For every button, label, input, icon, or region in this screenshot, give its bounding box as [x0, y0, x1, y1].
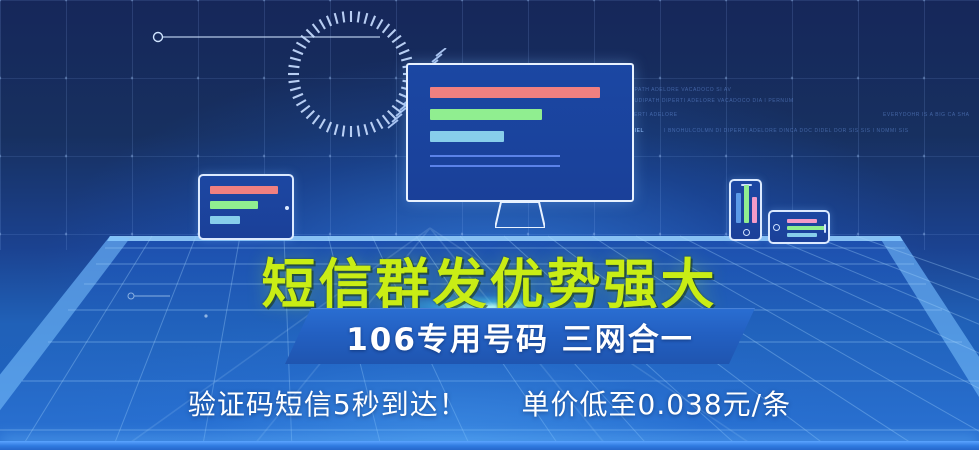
- subtitle-row: 验证码短信5秒到达！ 单价低至0.038元/条: [0, 383, 979, 423]
- tablet-bar-red: [210, 186, 278, 194]
- tablet-device: [198, 174, 294, 240]
- phone-home-button: [773, 224, 780, 231]
- subtitle-right-text: 单价低至0.038元/条: [522, 388, 792, 421]
- monitor-line: [430, 165, 560, 167]
- phone-bar-pink: [752, 197, 757, 223]
- phone-landscape-device: [768, 210, 830, 244]
- phone-portrait-device: [729, 179, 762, 241]
- bottom-accent-strip: [0, 441, 979, 450]
- monitor-screen: [406, 63, 634, 202]
- phone-bar-pink: [787, 219, 817, 223]
- tablet-bar-green: [210, 201, 258, 209]
- monitor-bar-green: [430, 109, 542, 120]
- tablet-home-dot: [285, 206, 289, 210]
- phone-bar-green: [744, 185, 749, 223]
- decor-text-line: I SANDI RUDIPATH DIPERTI ADELORE VACADOC…: [606, 98, 794, 104]
- phone-bar-green: [787, 226, 825, 230]
- monitor-line: [430, 155, 560, 157]
- subtitle-left-text: 验证码短信5秒到达！: [188, 388, 468, 421]
- monitor-bar-red: [430, 87, 600, 98]
- ribbon-label: 106专用号码 三网合一: [285, 308, 755, 364]
- decor-text-line: I BNOHULCOLMN DI DIPERTI ADELORE DINCA D…: [664, 128, 909, 134]
- phone-home-button: [743, 229, 750, 236]
- tablet-bar-blue: [210, 216, 240, 224]
- promo-banner: I AN RUDIPATH ADELORE VACADOCO SI AV I S…: [0, 0, 979, 450]
- phone-bar-blue: [736, 193, 741, 223]
- desktop-monitor: [406, 63, 634, 228]
- monitor-bar-blue: [430, 131, 504, 142]
- phone-speaker: [824, 224, 826, 233]
- monitor-stand: [495, 202, 545, 228]
- ribbon-banner: 106专用号码 三网合一: [0, 308, 979, 364]
- phone-bar-blue: [787, 233, 817, 237]
- decor-text-line: EVERYDOHR IS A BIG CA SHA: [883, 112, 970, 118]
